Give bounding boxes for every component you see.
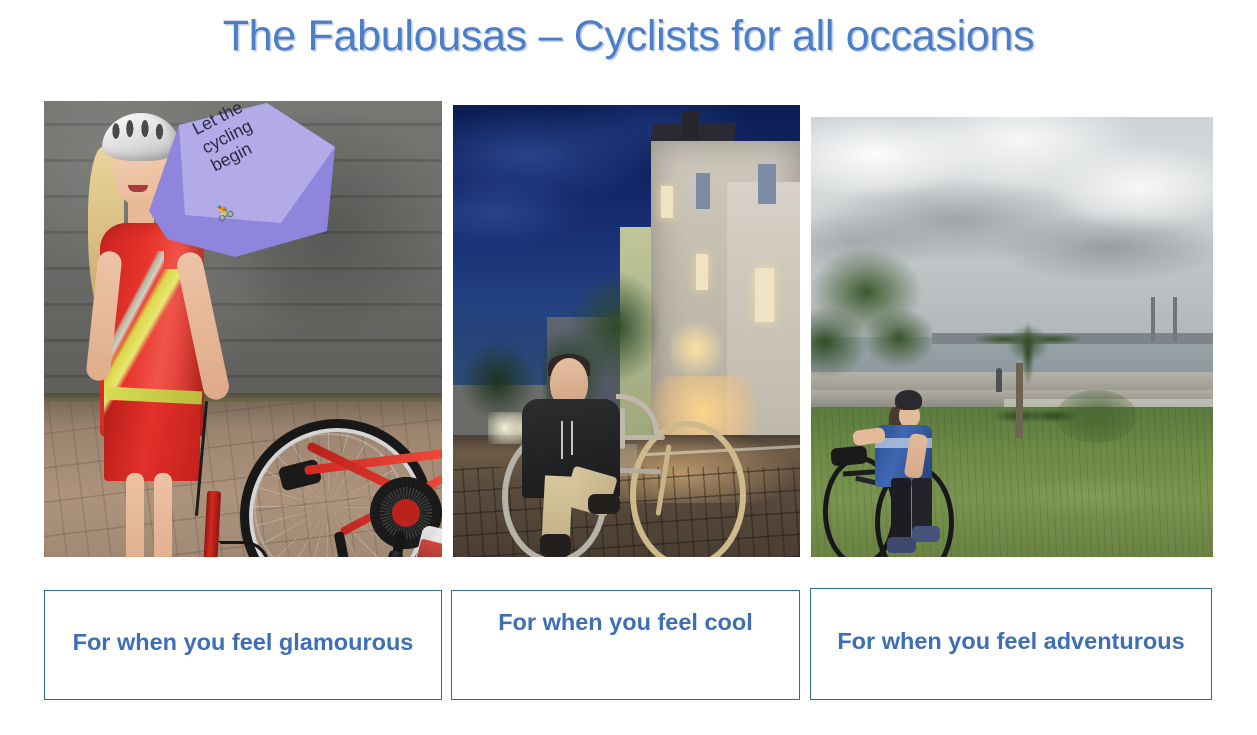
- hood-drawstring: [561, 421, 563, 459]
- helmet-vents: [108, 119, 174, 149]
- caption-cool: For when you feel cool: [488, 607, 763, 638]
- leg-right: [154, 473, 172, 557]
- window: [758, 164, 775, 205]
- bike-rear-rack: [830, 445, 868, 466]
- window: [661, 186, 673, 218]
- poolbeg-chimney: [1173, 297, 1177, 341]
- cycling-shoe-right: [912, 526, 940, 541]
- chimney-stack: [682, 112, 699, 139]
- window: [696, 254, 708, 290]
- rack-front-wheel: [630, 421, 746, 557]
- caption-adventurous: For when you feel adventurous: [827, 626, 1194, 657]
- leg-left: [126, 473, 144, 557]
- photo-glamourous[interactable]: [44, 101, 442, 557]
- cycling-shoe-left: [887, 537, 915, 552]
- slide-canvas: The Fabulousas – Cyclists for all occasi…: [0, 0, 1257, 735]
- cycling-tights-left: [891, 478, 911, 544]
- window: [696, 173, 710, 209]
- page-title: The Fabulousas – Cyclists for all occasi…: [0, 12, 1257, 61]
- caption-box-cool[interactable]: For when you feel cool: [451, 590, 800, 700]
- shoe-left: [540, 534, 571, 557]
- photo-cool[interactable]: [453, 105, 800, 557]
- caption-box-adventurous[interactable]: For when you feel adventurous: [810, 588, 1212, 700]
- caption-glamourous: For when you feel glamourous: [63, 627, 424, 658]
- cycling-helmet: [895, 390, 921, 410]
- window: [755, 268, 774, 322]
- hood-drawstring: [571, 421, 573, 455]
- street-lamp-glow: [668, 313, 724, 385]
- shoe-right: [588, 494, 619, 514]
- chainring-centre: [392, 499, 420, 527]
- cordyline-palm: [976, 284, 1081, 398]
- poolbeg-chimney: [1151, 297, 1155, 341]
- caption-box-glamourous[interactable]: For when you feel glamourous: [44, 590, 442, 700]
- photo-adventurous[interactable]: [811, 117, 1213, 557]
